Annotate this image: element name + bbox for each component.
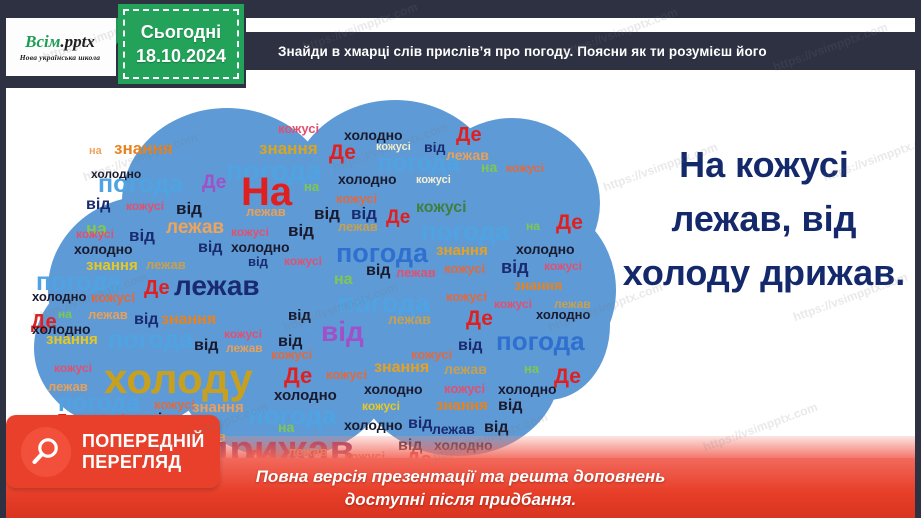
preview-badge[interactable]: ПОПЕРЕДНІЙ ПЕРЕГЛЯД [6, 415, 220, 488]
logo-wordmark: Всім.pptx [25, 33, 95, 50]
preview-badge-label: ПОПЕРЕДНІЙ ПЕРЕГЛЯД [82, 431, 205, 471]
logo-brand-prefix: Всім [25, 32, 60, 51]
preview-badge-line1: ПОПЕРЕДНІЙ [82, 431, 205, 451]
magnifier-icon [21, 427, 71, 477]
proverb-text: На кожусі лежав, від холоду дрижав. [618, 138, 910, 300]
slide-root: Всім.pptx Нова українська школа Сьогодні… [0, 0, 921, 518]
frame-edge-right [915, 0, 921, 518]
header-white-strip-bottom [246, 70, 921, 88]
slide-header: Всім.pptx Нова українська школа Сьогодні… [0, 0, 921, 88]
date-badge: Сьогодні 18.10.2024 [118, 4, 244, 84]
logo-tagline: Нова українська школа [20, 53, 101, 62]
footer-line2: доступні після придбання. [0, 489, 921, 512]
title-bar: Знайди в хмарці слів прислів’я про погод… [246, 32, 921, 70]
date-badge-label: Сьогодні [141, 20, 221, 44]
date-badge-value: 18.10.2024 [136, 44, 226, 68]
logo-brand-suffix: .pptx [60, 32, 94, 51]
brand-logo: Всім.pptx Нова українська школа [4, 18, 116, 76]
cloud-shape [26, 100, 616, 460]
word-cloud: назнаннякожусізнанняпогодахолоднокожусіД… [26, 100, 616, 460]
header-white-strip-top [246, 18, 921, 32]
page-title: Знайди в хмарці слів прислів’я про погод… [246, 44, 767, 59]
preview-badge-line2: ПЕРЕГЛЯД [82, 452, 205, 472]
frame-edge-left [0, 0, 6, 518]
